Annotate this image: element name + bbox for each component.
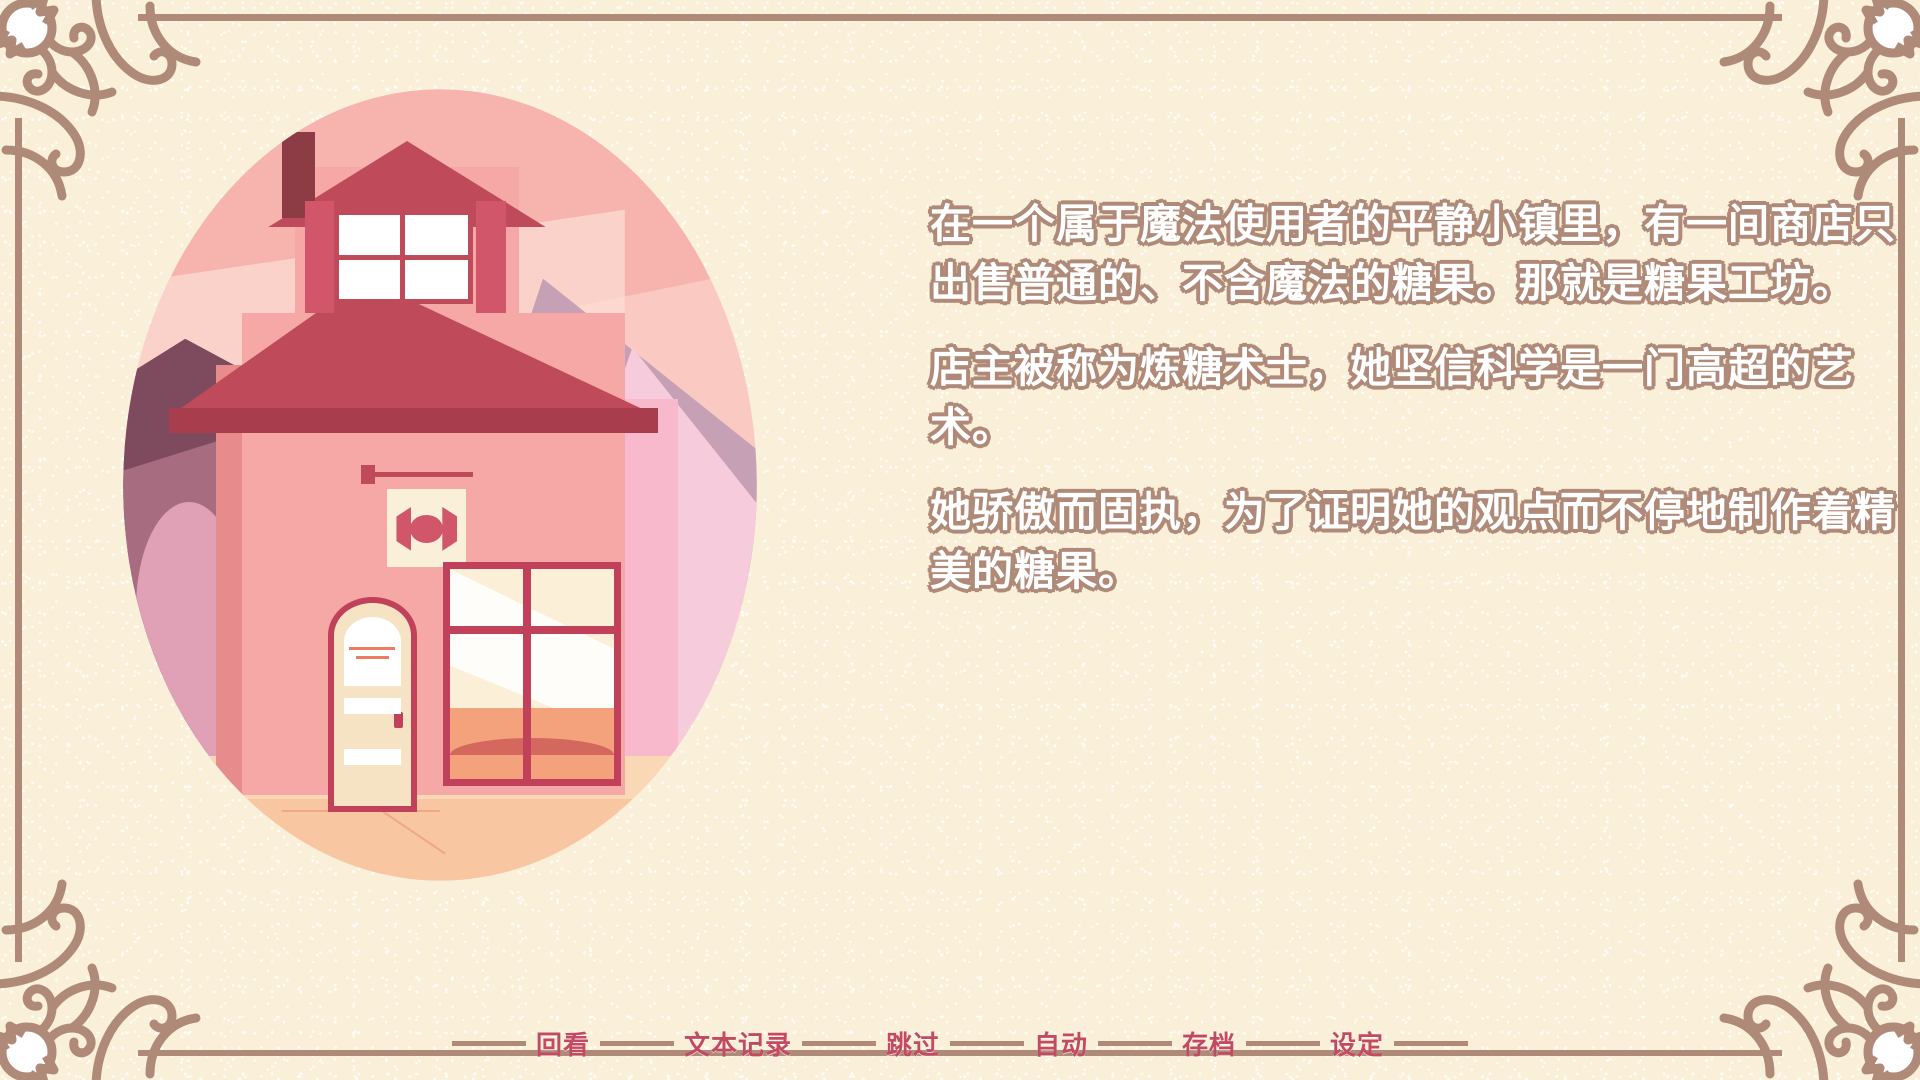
door-panel: [344, 698, 401, 714]
corner-ornament-top-right: [1705, 0, 1920, 215]
window-display-shelf: [450, 708, 614, 779]
door-knob: [394, 712, 403, 728]
shop-display-window: [443, 562, 621, 786]
dialogue-paragraph: 店主被称为炼糖术士，她坚信科学是一门高超的艺术。: [930, 339, 1920, 457]
menu-skip[interactable]: 跳过: [876, 1025, 950, 1062]
menu-divider: [802, 1041, 876, 1046]
menu-log[interactable]: 文本记录: [674, 1025, 802, 1062]
attic-shutter-right: [476, 201, 506, 313]
menu-divider: [1098, 1041, 1172, 1046]
frame-rule-top: [138, 14, 1782, 21]
sign-bracket: [361, 465, 375, 484]
corner-ornament-top-left: [0, 0, 215, 215]
menu-divider: [600, 1041, 674, 1046]
menu-divider: [452, 1041, 526, 1046]
shop-door: [328, 597, 417, 812]
pavement-line: [154, 816, 231, 858]
bottom-menu-bar: 回看 文本记录 跳过 自动 存档 设定: [0, 1016, 1920, 1070]
attic-shutter-left: [305, 201, 335, 313]
frame-rule-left: [15, 118, 22, 962]
window-mullion-horizontal: [450, 626, 614, 634]
shop-sign-arm: [361, 472, 473, 477]
menu-divider: [1246, 1041, 1320, 1046]
dialogue-paragraph: 在一个属于魔法使用者的平静小镇里，有一间商店只出售普通的、不含魔法的糖果。那就是…: [930, 195, 1920, 313]
menu-history[interactable]: 回看: [526, 1025, 600, 1062]
dialogue-paragraph: 她骄傲而固执，为了证明她的观点而不停地制作着精美的糖果。: [930, 483, 1920, 601]
menu-auto[interactable]: 自动: [1024, 1025, 1098, 1062]
attic-window: [334, 210, 473, 305]
shop-roof-edge: [169, 408, 657, 434]
door-panel: [344, 749, 401, 765]
candy-icon: [410, 515, 443, 543]
window-mullion-horizontal: [339, 255, 468, 260]
display-pastries: [450, 738, 614, 755]
window-mullion-vertical: [523, 569, 531, 779]
pavement-line: [232, 864, 299, 895]
menu-divider: [1394, 1041, 1468, 1046]
menu-divider: [950, 1041, 1024, 1046]
door-handwriting: [349, 647, 395, 671]
dialogue-text-box[interactable]: 在一个属于魔法使用者的平静小镇里，有一间商店只出售普通的、不含魔法的糖果。那就是…: [930, 195, 1920, 601]
menu-save[interactable]: 存档: [1172, 1025, 1246, 1062]
menu-settings[interactable]: 设定: [1320, 1025, 1394, 1062]
